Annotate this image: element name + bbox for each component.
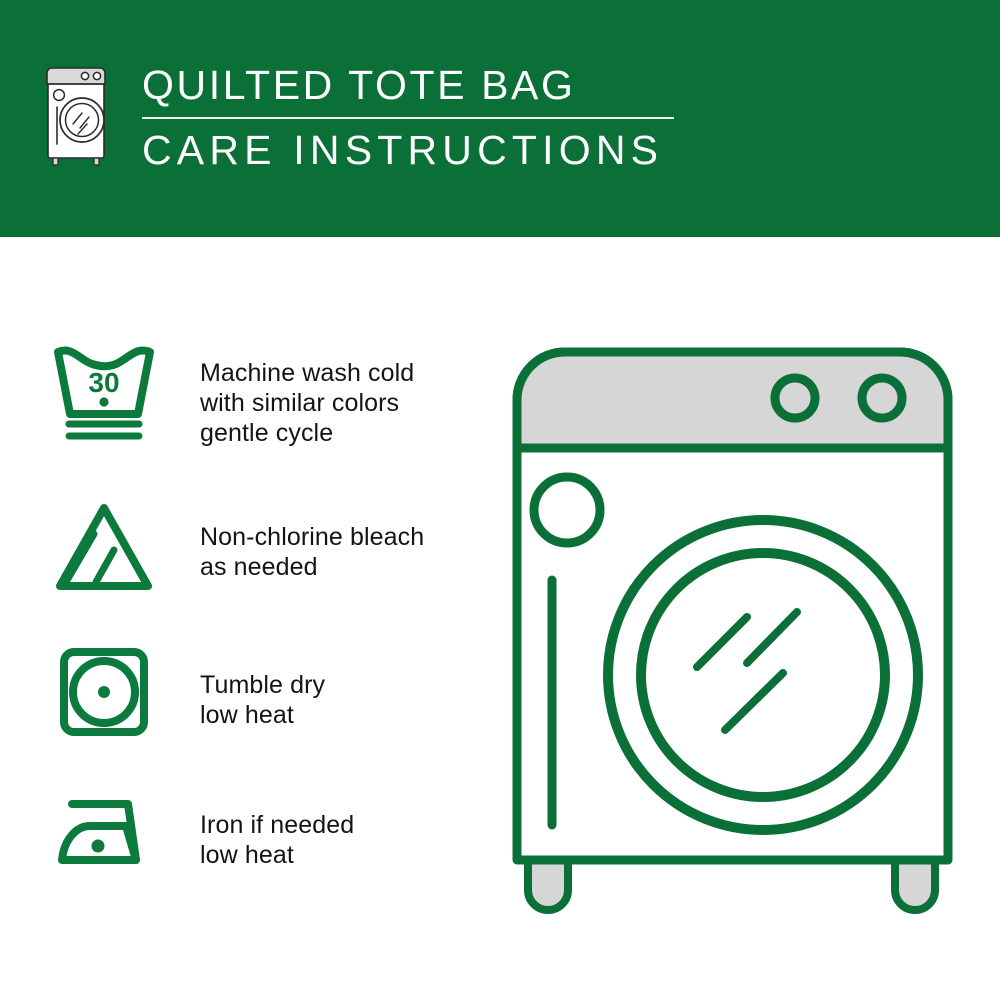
care-line: with similar colors xyxy=(200,388,414,418)
list-item-text: Iron if needed low heat xyxy=(200,788,354,870)
header-banner: QUILTED TOTE BAG CARE INSTRUCTIONS xyxy=(0,0,1000,237)
door-inner-ring xyxy=(641,553,885,797)
title-divider xyxy=(142,117,674,119)
care-line: as needed xyxy=(200,552,424,582)
title-block: QUILTED TOTE BAG CARE INSTRUCTIONS xyxy=(142,62,674,173)
care-line: Tumble dry xyxy=(200,670,325,700)
washing-machine-illustration xyxy=(495,330,970,930)
care-line: Non-chlorine bleach xyxy=(200,522,424,552)
care-instructions-page: QUILTED TOTE BAG CARE INSTRUCTIONS 30 xyxy=(0,0,1000,1000)
knob-left xyxy=(775,378,815,418)
page-subtitle: CARE INSTRUCTIONS xyxy=(142,127,674,173)
header-content: QUILTED TOTE BAG CARE INSTRUCTIONS xyxy=(42,62,674,173)
bleach-triangle-icon xyxy=(50,494,158,598)
care-line: Iron if needed xyxy=(200,810,354,840)
list-item: 30 Machine wash cold with similar colors… xyxy=(50,338,470,448)
care-instruction-list: 30 Machine wash cold with similar colors… xyxy=(50,338,470,892)
indicator-circle xyxy=(534,477,600,543)
care-line: Machine wash cold xyxy=(200,358,414,388)
care-line: gentle cycle xyxy=(200,418,414,448)
wash-tub-icon: 30 xyxy=(50,338,158,442)
wash-temperature-label: 30 xyxy=(88,367,119,398)
washing-machine-icon xyxy=(42,62,114,168)
list-item-text: Tumble dry low heat xyxy=(200,644,325,730)
care-line: low heat xyxy=(200,700,325,730)
knob-right xyxy=(862,378,902,418)
list-item: Tumble dry low heat xyxy=(50,644,470,748)
tumble-dry-icon xyxy=(50,644,158,748)
list-item: Non-chlorine bleach as needed xyxy=(50,494,470,598)
iron-icon xyxy=(50,788,158,892)
list-item: Iron if needed low heat xyxy=(50,788,470,892)
list-item-text: Non-chlorine bleach as needed xyxy=(200,494,424,582)
page-title: QUILTED TOTE BAG xyxy=(142,62,674,108)
list-item-text: Machine wash cold with similar colors ge… xyxy=(200,338,414,448)
care-line: low heat xyxy=(200,840,354,870)
